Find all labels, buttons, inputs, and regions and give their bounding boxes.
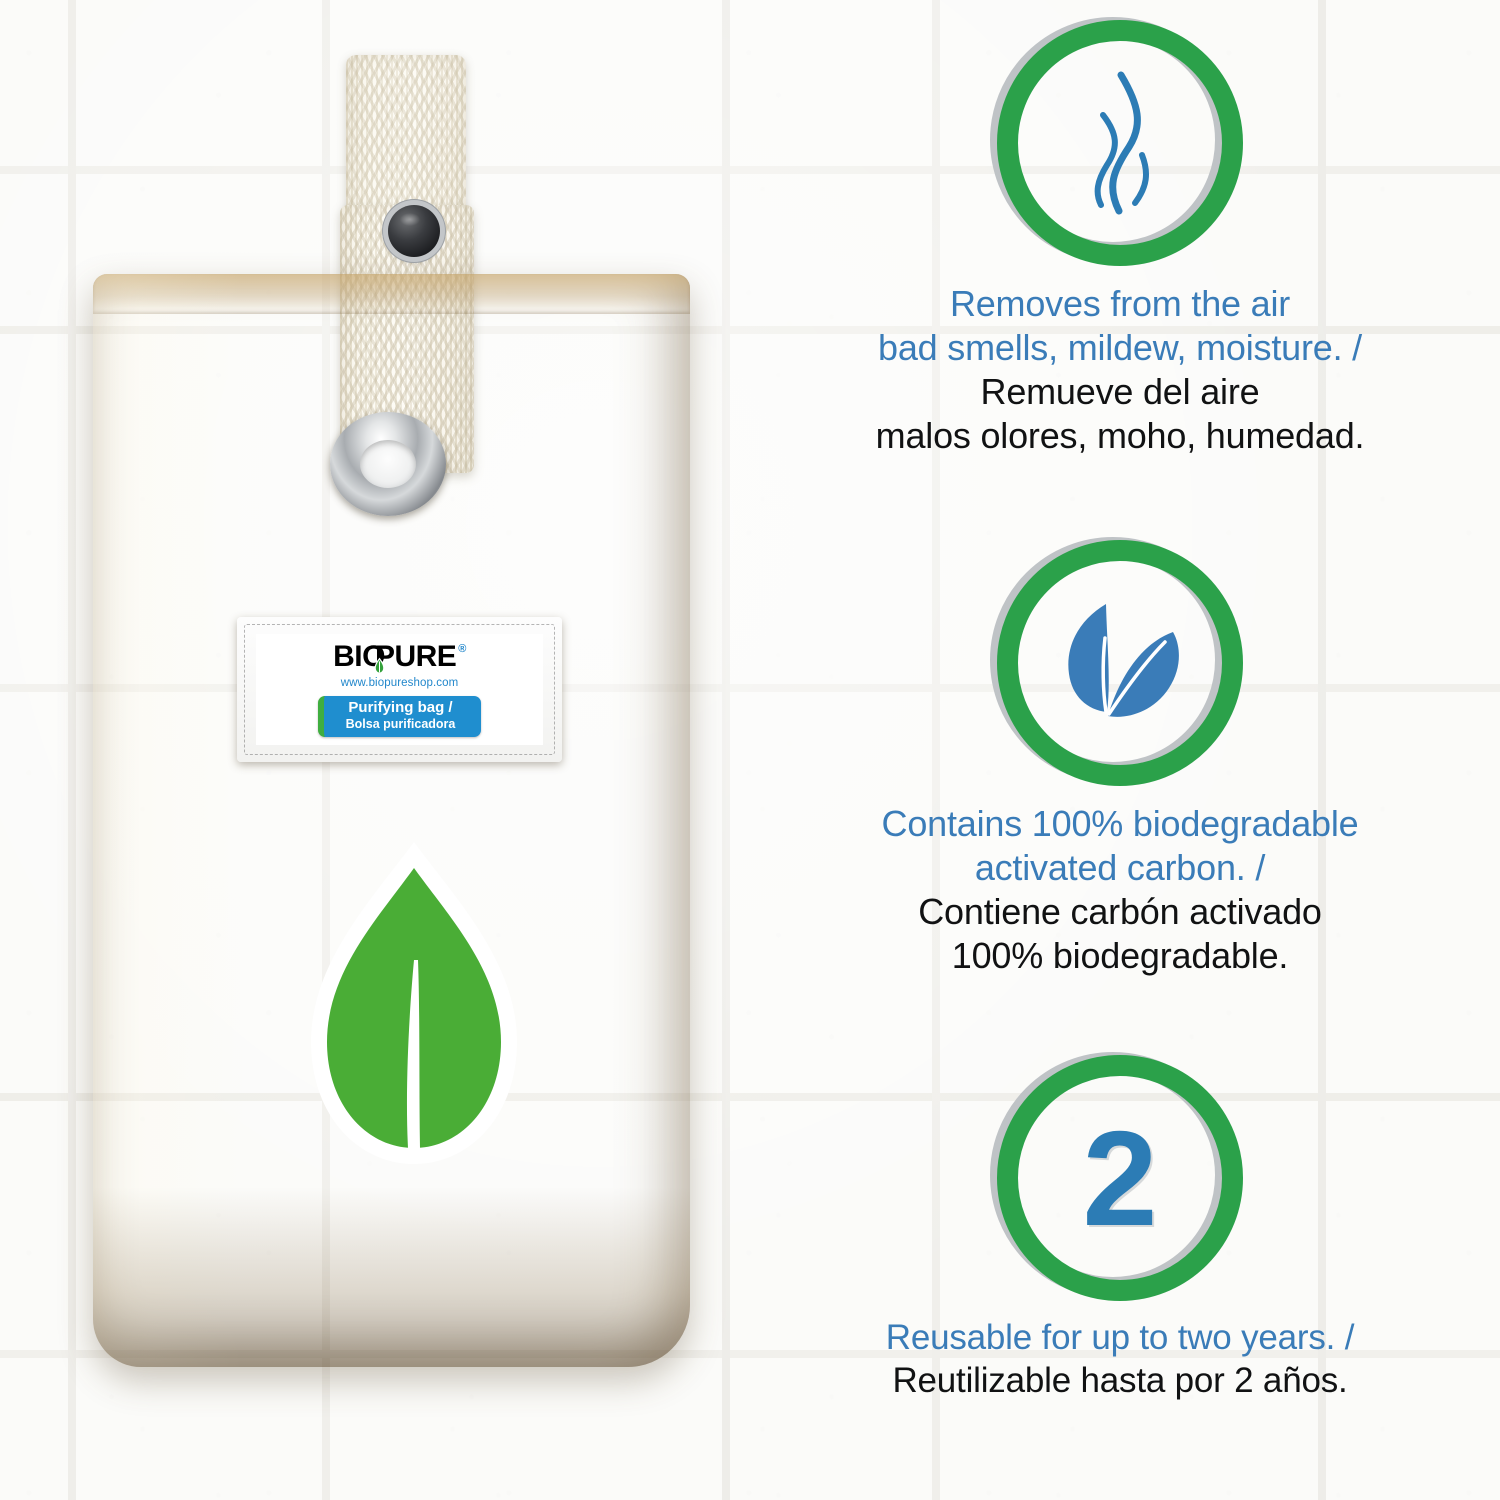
label-badge: Purifying bag / Bolsa purificadora [318, 696, 482, 736]
brand-url: www.biopureshop.com [341, 677, 459, 689]
feature-icon-ring-1 [997, 20, 1243, 266]
caption-es-line-1: Contiene carbón activado [756, 890, 1484, 934]
brand-logo: BIO PURE ® [333, 642, 466, 672]
caption-es-line-2: malos olores, moho, humedad. [756, 414, 1484, 458]
caption-en-line-2: bad smells, mildew, moisture. / [756, 326, 1484, 370]
two-leaves-icon [1045, 588, 1195, 738]
grommet-hole [360, 440, 416, 488]
green-leaf-logo-icon [305, 838, 523, 1168]
product-label: BIO PURE ® www.biopureshop.com Purifying… [237, 617, 562, 762]
caption-en-line-1: Contains 100% biodegradable [756, 802, 1484, 846]
brand-pure-text: PURE [375, 642, 456, 672]
feature-icon-ring-2 [997, 540, 1243, 786]
metal-snap-button-icon [388, 205, 440, 257]
registered-trademark-icon: ® [458, 644, 466, 655]
label-badge-line-en: Purifying bag / [346, 700, 456, 717]
metal-grommet-icon [330, 412, 446, 516]
caption-en-line-1: Reusable for up to two years. / [756, 1317, 1484, 1360]
caption-es-line-2: 100% biodegradable. [756, 934, 1484, 978]
feature-caption-3: Reusable for up to two years. / Reutiliz… [740, 1317, 1500, 1402]
caption-en-line-2: activated carbon. / [756, 846, 1484, 890]
feature-caption-2: Contains 100% biodegradable activated ca… [740, 802, 1500, 978]
feature-caption-1: Removes from the air bad smells, mildew,… [740, 282, 1500, 458]
label-badge-line-es: Bolsa purificadora [346, 717, 456, 731]
feature-item-biodegradable-carbon: Contains 100% biodegradable activated ca… [740, 540, 1500, 978]
feature-list: Removes from the air bad smells, mildew,… [740, 0, 1500, 1500]
product-infographic: BIO PURE ® www.biopureshop.com Purifying… [0, 0, 1500, 1500]
product-label-content: BIO PURE ® www.biopureshop.com Purifying… [256, 634, 543, 745]
feature-item-reusable-two-years: 2 Reusable for up to two years. / Reutil… [740, 1055, 1500, 1402]
feature-item-odor-removal: Removes from the air bad smells, mildew,… [740, 20, 1500, 458]
number-two-icon: 2 [1082, 1111, 1157, 1246]
caption-en-line-1: Removes from the air [756, 282, 1484, 326]
air-smoke-waves-icon [1045, 68, 1195, 218]
caption-es-line-1: Remueve del aire [756, 370, 1484, 414]
leaf-in-letter-o-icon [374, 650, 385, 667]
feature-icon-ring-3: 2 [997, 1055, 1243, 1301]
caption-es-line-1: Reutilizable hasta por 2 años. [756, 1360, 1484, 1403]
bag-bottom-shadow [93, 1187, 690, 1367]
product-photo: BIO PURE ® www.biopureshop.com Purifying… [0, 0, 740, 1500]
